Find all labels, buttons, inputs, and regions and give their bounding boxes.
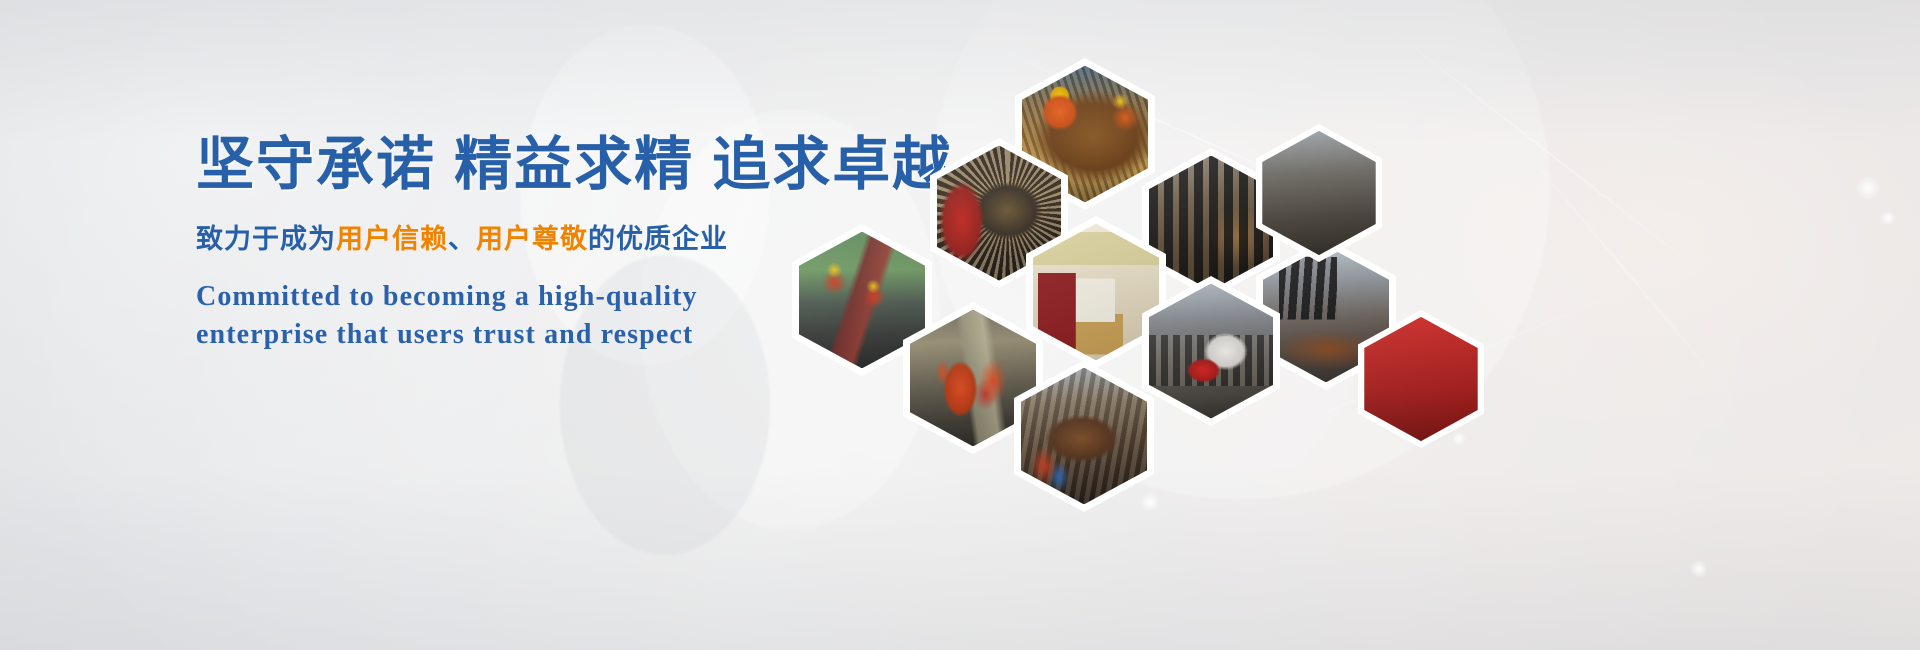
sparkle-2 (1880, 210, 1896, 226)
hexagon-photo-collage (760, 30, 1460, 530)
sparkle-1 (1855, 175, 1881, 201)
subtitle-part-4: 用户尊敬 (476, 224, 588, 254)
subtitle-part-3: 、 (448, 224, 476, 254)
subtitle-part-5: 的优质企业 (588, 224, 728, 254)
photo-coils (1149, 156, 1273, 291)
subtitle-part-2: 用户信赖 (336, 224, 448, 254)
photo-awards (1033, 224, 1159, 361)
photo-redflag (1364, 317, 1477, 441)
company-hero-banner: 坚守承诺 精益求精 追求卓越 致力于成为用户信赖、用户尊敬的优质企业 Commi… (0, 0, 1920, 650)
photo-casting (1021, 368, 1147, 505)
sparkle-5 (1690, 560, 1708, 578)
subtitle-part-1: 致力于成为 (196, 224, 336, 254)
photo-darkshop (1262, 131, 1375, 255)
photo-tech (1149, 284, 1273, 419)
